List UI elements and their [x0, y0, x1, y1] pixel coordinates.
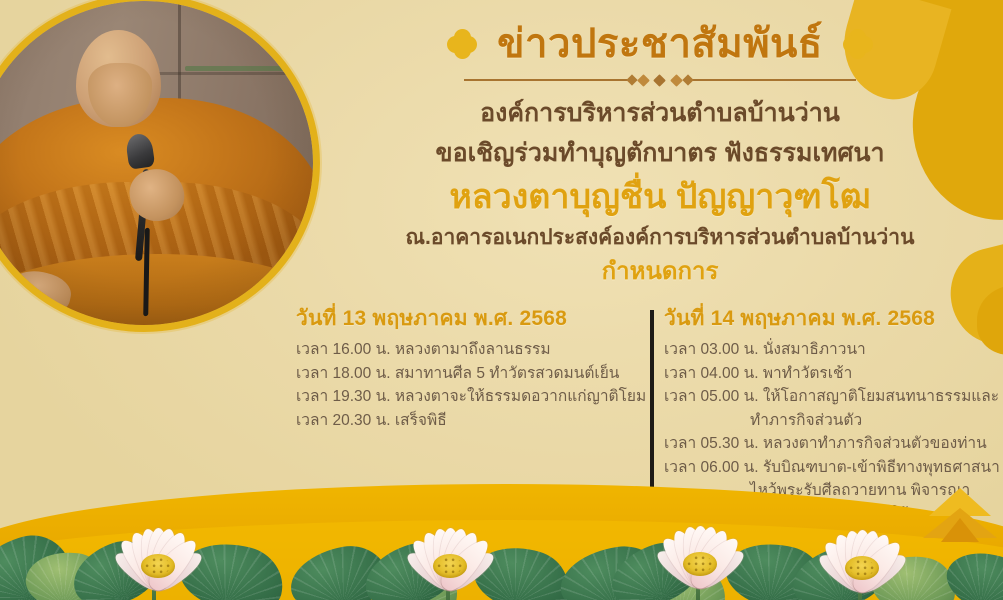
lotus-flower-center: [433, 554, 467, 578]
poster-header: ข่าวประชาสัมพันธ์ องค์การบริหารส่วนตำบลบ…: [330, 22, 990, 287]
quatrefoil-ornament-icon: [447, 29, 477, 59]
lotus-flower: [102, 504, 214, 600]
thai-temple-roof-icon: [923, 488, 997, 542]
quatrefoil-ornament-icon: [843, 29, 873, 59]
lotus-flower-center: [141, 554, 175, 578]
schedule-item: เวลา 05.00 น. ให้โอกาสญาติโยมสนทนาธรรมแล…: [664, 385, 988, 409]
lotus-flower: [806, 506, 918, 600]
schedule-item: เวลา 04.00 น. พาทำวัตรเช้า: [664, 362, 988, 386]
venue-text: ณ.อาคารอเนกประสงค์องค์การบริหารส่วนตำบลบ…: [330, 224, 990, 251]
day2-heading: วันที่ 14 พฤษภาคม พ.ศ. 2568: [664, 306, 988, 331]
title-row: ข่าวประชาสัมพันธ์: [330, 22, 990, 66]
schedule-item: เวลา 03.00 น. นั่งสมาธิภาวนา: [664, 338, 988, 362]
lotus-flower: [394, 504, 506, 600]
lotus-flower-center: [845, 556, 879, 580]
schedule-item: เวลา 20.30 น. เสร็จพิธี: [296, 409, 630, 433]
poster-canvas: ข่าวประชาสัมพันธ์ องค์การบริหารส่วนตำบลบ…: [0, 0, 1003, 600]
schedule-label: กำหนดการ: [330, 258, 990, 287]
schedule-item: เวลา 06.00 น. รับบิณฑบาต-เข้าพิธีทางพุทธ…: [664, 456, 988, 480]
schedule-item-continuation: ทำภารกิจส่วนตัว: [664, 409, 988, 433]
lotus-flower: [644, 502, 756, 598]
schedule-item: เวลา 18.00 น. สมาทานศีล 5 ทำวัตรสวดมนต์เ…: [296, 362, 630, 386]
schedule-item: เวลา 19.30 น. หลวงตาจะให้ธรรมดอวากแก่ญาต…: [296, 385, 630, 409]
lotus-flower-center: [683, 552, 717, 576]
day1-heading: วันที่ 13 พฤษภาคม พ.ศ. 2568: [296, 306, 630, 331]
organization-name: องค์การบริหารส่วนตำบลบ้านว่าน: [330, 97, 990, 129]
schedule-item: เวลา 05.30 น. หลวงตาทำภารกิจส่วนตัวของท่…: [664, 432, 988, 456]
schedule-item: เวลา 16.00 น. หลวงตามาถึงลานธรรม: [296, 338, 630, 362]
page-title: ข่าวประชาสัมพันธ์: [497, 22, 823, 66]
monk-name: หลวงตาบุญชื่น ปัญญาวุฑโฒ: [330, 177, 990, 218]
ornamental-divider: [464, 73, 856, 87]
invitation-text: ขอเชิญร่วมทำบุญตักบาตร ฟังธรรมเทศนา: [330, 137, 990, 169]
monk-portrait: [0, 0, 320, 332]
